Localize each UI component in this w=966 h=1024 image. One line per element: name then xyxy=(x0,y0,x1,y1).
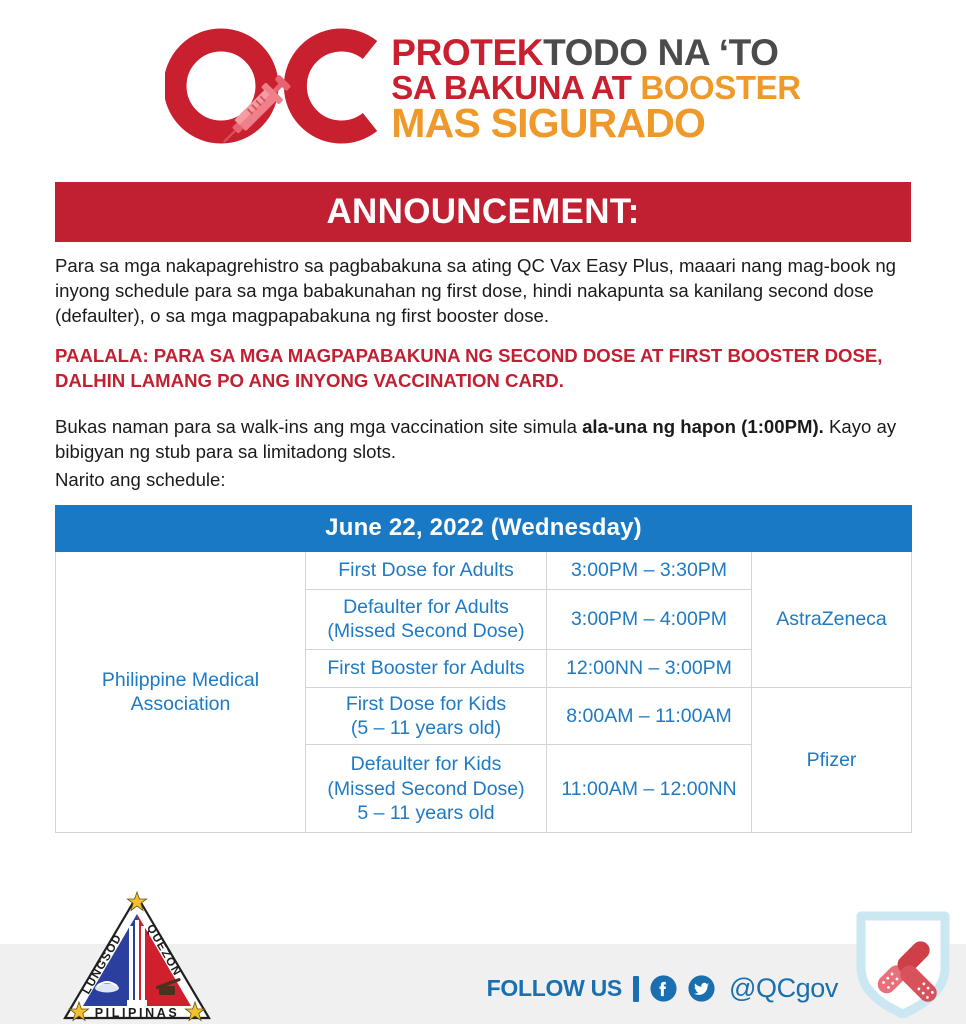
qc-logo-mark xyxy=(165,28,377,148)
tagline-line-1: PROTEKTODO NA ‘TO xyxy=(391,36,800,71)
shield-bandage-check-icon xyxy=(849,906,957,1018)
cell-type-2: Defaulter for Adults (Missed Second Dose… xyxy=(306,589,547,649)
tagline-todo-na-to: TODO NA ‘TO xyxy=(543,32,778,73)
cell-type-1: First Dose for Adults xyxy=(306,551,547,589)
tagline-line-3: MAS SIGURADO xyxy=(391,104,800,143)
paragraph-intro: Para sa mga nakapagrehistro sa pagbabaku… xyxy=(55,253,911,328)
tagline-block: PROTEKTODO NA ‘TO SA BAKUNA AT BOOSTER M… xyxy=(391,36,800,142)
cell-vaccine-pfizer: Pfizer xyxy=(752,687,912,832)
cell-type-5-line1: Defaulter for Kids xyxy=(351,753,502,775)
schedule-table: June 22, 2022 (Wednesday) Philippine Med… xyxy=(55,505,912,833)
announcement-body: Para sa mga nakapagrehistro sa pagbabaku… xyxy=(55,242,911,492)
cell-type-5-line2: (Missed Second Dose) xyxy=(327,778,524,800)
tagline-line-2: SA BAKUNA AT BOOSTER xyxy=(391,72,800,103)
follow-us-label: FOLLOW US xyxy=(487,975,622,1002)
table-header-row: June 22, 2022 (Wednesday) xyxy=(56,506,912,552)
paragraph-walkins: Bukas naman para sa walk-ins ang mga vac… xyxy=(55,414,911,464)
seal-text-pilipinas: PILIPINAS xyxy=(95,1006,180,1020)
cell-type-2-line1: Defaulter for Adults xyxy=(343,596,509,618)
qc-letters-with-syringe-icon xyxy=(165,28,377,148)
table-row: Philippine Medical Association First Dos… xyxy=(56,551,912,589)
facebook-icon[interactable] xyxy=(650,975,677,1002)
cell-type-5: Defaulter for Kids (Missed Second Dose) … xyxy=(306,745,547,833)
cell-time-1: 3:00PM – 3:30PM xyxy=(547,551,752,589)
schedule-date-header: June 22, 2022 (Wednesday) xyxy=(56,506,912,552)
cell-type-5-line3: 5 – 11 years old xyxy=(357,802,494,824)
paragraph-warning: PAALALA: PARA SA MGA MAGPAPABAKUNA NG SE… xyxy=(55,344,911,393)
announcement-banner-label: ANNOUNCEMENT: xyxy=(326,192,639,232)
cell-type-3: First Booster for Adults xyxy=(306,649,547,687)
social-handle[interactable]: @QCgov xyxy=(729,973,838,1004)
cell-type-2-line2: (Missed Second Dose) xyxy=(327,620,524,642)
cell-time-3: 12:00NN – 3:00PM xyxy=(547,649,752,687)
cell-time-4: 8:00AM – 11:00AM xyxy=(547,687,752,744)
follow-us-group: FOLLOW US @QCgov xyxy=(487,973,838,1004)
tagline-protek: PROTEK xyxy=(391,32,543,73)
divider xyxy=(633,976,639,1002)
twitter-icon[interactable] xyxy=(688,975,715,1002)
cell-vaccine-astrazeneca: AstraZeneca xyxy=(752,551,912,687)
paragraph-schedule-lead: Narito ang schedule: xyxy=(55,467,911,492)
walkins-time-bold: ala-una ng hapon (1:00PM). xyxy=(582,416,824,437)
header-logo-lockup: PROTEKTODO NA ‘TO SA BAKUNA AT BOOSTER M… xyxy=(0,0,966,172)
cell-time-5: 11:00AM – 12:00NN xyxy=(547,745,752,833)
announcement-banner: ANNOUNCEMENT: xyxy=(55,182,911,242)
vaccine-shield-badge xyxy=(849,906,957,1018)
quezon-city-seal-icon: LUNGSOD QUEZON PILIPINAS xyxy=(59,890,215,1024)
cell-type-4-line2: (5 – 11 years old) xyxy=(351,717,501,739)
cell-type-4-line1: First Dose for Kids xyxy=(346,693,506,715)
walkins-text-before: Bukas naman para sa walk-ins ang mga vac… xyxy=(55,416,582,437)
quezon-city-seal: LUNGSOD QUEZON PILIPINAS xyxy=(59,890,215,1024)
cell-type-4: First Dose for Kids (5 – 11 years old) xyxy=(306,687,547,744)
cell-time-2: 3:00PM – 4:00PM xyxy=(547,589,752,649)
schedule-table-wrapper: June 22, 2022 (Wednesday) Philippine Med… xyxy=(55,505,911,833)
cell-site-name: Philippine Medical Association xyxy=(56,551,306,832)
